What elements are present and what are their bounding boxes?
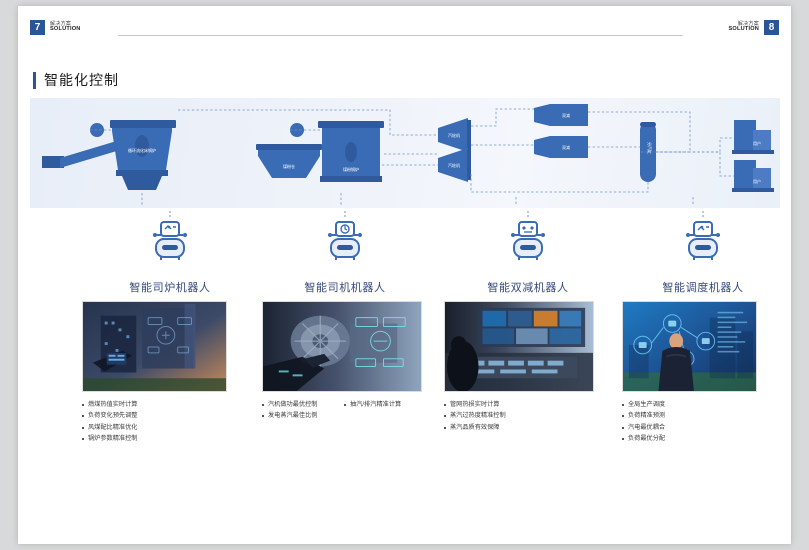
bullet-item: 负荷最优分配 <box>622 433 665 444</box>
bullet-item: 蒸汽品质有效保障 <box>444 422 506 433</box>
page-title: 智能化控制 <box>33 70 119 90</box>
node-label-dual-2: 双减 <box>562 144 570 150</box>
node-label-cfb: 循环流化床锅炉 <box>128 147 156 153</box>
node-user-upper: 用户 <box>732 120 774 154</box>
thumbnail-art <box>445 302 593 391</box>
process-diagram-svg: .fb{fill:#3a6bb5}.fd{fill:#2f5a9e}.fl{fi… <box>30 98 780 208</box>
bullet-item: 锅炉参数精准控制 <box>82 433 154 444</box>
header-divider-rule <box>118 35 683 36</box>
node-turbine-lower: 汽轮机 <box>438 148 471 182</box>
bullet-column: 燃煤热值实时计算 负荷变化预先调整 <box>82 399 154 422</box>
bullet-column: 全局生产调度 负荷精准预测 汽电最优耦合 负荷最优分配 <box>622 399 665 445</box>
card-row: 燃煤热值实时计算 负荷变化预先调整 风煤配比精准优化 锅炉参数精准控制 <box>30 301 780 451</box>
node-user-lower: 用户 <box>732 160 774 192</box>
header-right-brand: 解决方案 SOLUTION 8 <box>728 20 779 35</box>
robot-icon <box>498 211 558 271</box>
bullet-item: 燃煤热值实时计算 <box>82 399 154 410</box>
bullet-item: 汽电最优耦合 <box>622 422 665 433</box>
card-dual-reduction: 管网热损实时计算 蒸汽过热度精准控制 蒸汽品质有效保障 <box>444 301 594 433</box>
bullet-item: 发电蒸汽最佳比例 <box>262 410 334 421</box>
robot-dispatch: 智能调度机器人 <box>613 211 793 295</box>
title-accent-bar <box>33 72 36 89</box>
card-thumbnail <box>262 301 422 392</box>
card-bullets: 燃煤热值实时计算 负荷变化预先调整 风煤配比精准优化 锅炉参数精准控制 <box>82 399 227 445</box>
bullet-item: 负荷变化预先调整 <box>82 410 154 421</box>
card-dispatch: 全局生产调度 负荷精准预测 汽电最优耦合 负荷最优分配 <box>622 301 757 445</box>
robot-label: 智能调度机器人 <box>613 279 793 295</box>
robot-icon <box>140 211 200 271</box>
bullet-column: 汽机做功最优控制 发电蒸汽最佳比例 <box>262 399 334 422</box>
node-label-turbine-1: 汽轮机 <box>448 132 460 138</box>
bullet-column: 风煤配比精准优化 锅炉参数精准控制 <box>82 422 154 445</box>
bullet-item: 汽机做功最优控制 <box>262 399 334 410</box>
robot-row: 智能司炉机器人 智能司机机器人 <box>30 211 780 301</box>
robot-label: 智能司机机器人 <box>255 279 435 295</box>
robot-dual-reduction: 智能双减机器人 <box>438 211 618 295</box>
header-left-number: 7 <box>30 20 45 35</box>
bullet-column: 抽汽/排汽精准计算 <box>344 399 416 422</box>
card-bullets: 汽机做功最优控制 发电蒸汽最佳比例 抽汽/排汽精准计算 <box>262 399 422 422</box>
bullet-item: 风煤配比精准优化 <box>82 422 154 433</box>
robot-label: 智能司炉机器人 <box>80 279 260 295</box>
node-label-turbine-2: 汽轮机 <box>448 162 460 168</box>
card-thumbnail <box>444 301 594 392</box>
title-text: 智能化控制 <box>44 70 119 90</box>
process-diagram: .fb{fill:#3a6bb5}.fd{fill:#2f5a9e}.fl{fi… <box>30 98 780 208</box>
node-dual-reduction-upper: 双减 <box>534 104 588 126</box>
robot-icon <box>673 211 733 271</box>
node-label-bunker: 煤粉仓 <box>283 163 295 169</box>
thumbnail-art <box>263 302 421 391</box>
header-left-text: 解决方案 SOLUTION <box>50 22 81 33</box>
node-cfb-boiler: 循环流化床锅炉 <box>42 120 176 190</box>
header-left-brand: 7 解决方案 SOLUTION <box>30 20 81 35</box>
robot-label: 智能双减机器人 <box>438 279 618 295</box>
slide-canvas: 7 解决方案 SOLUTION 解决方案 SOLUTION 8 智能化控制 .f… <box>18 6 791 544</box>
thumbnail-art <box>623 302 756 391</box>
bullet-item: 抽汽/排汽精准计算 <box>344 399 416 410</box>
header-right-text: 解决方案 SOLUTION <box>728 22 759 33</box>
node-turbine-upper: 汽轮机 <box>438 118 471 152</box>
bullet-item: 负荷精准预测 <box>622 410 665 421</box>
bullet-item: 全局生产调度 <box>622 399 665 410</box>
bullet-item: 管网热损实时计算 <box>444 399 506 410</box>
robot-icon <box>315 211 375 271</box>
card-boiler-operator: 燃煤热值实时计算 负荷变化预先调整 风煤配比精准优化 锅炉参数精准控制 <box>82 301 227 445</box>
card-bullets: 管网热损实时计算 蒸汽过热度精准控制 蒸汽品质有效保障 <box>444 399 594 433</box>
bullet-item: 蒸汽过热度精准控制 <box>444 410 506 421</box>
diagram-flow-lines <box>90 109 734 206</box>
thumbnail-art <box>83 302 226 391</box>
node-label-user-2: 用户 <box>753 178 761 184</box>
robot-boiler-operator: 智能司炉机器人 <box>80 211 260 295</box>
node-coal-bunker: 煤粉仓 <box>256 144 322 178</box>
node-label-dual-1: 双减 <box>562 112 570 118</box>
card-bullets: 全局生产调度 负荷精准预测 汽电最优耦合 负荷最优分配 <box>622 399 757 445</box>
node-dual-reduction-lower: 双减 <box>534 136 588 158</box>
node-label-pcboiler: 煤粉锅炉 <box>343 166 359 172</box>
card-turbine-operator: 汽机做功最优控制 发电蒸汽最佳比例 抽汽/排汽精准计算 <box>262 301 422 422</box>
slide-header: 7 解决方案 SOLUTION 解决方案 SOLUTION 8 <box>18 6 791 46</box>
header-left-en: SOLUTION <box>50 27 81 33</box>
header-right-en: SOLUTION <box>728 27 759 33</box>
node-label-user-1: 用户 <box>753 140 761 146</box>
card-thumbnail <box>82 301 227 392</box>
card-thumbnail <box>622 301 757 392</box>
header-right-number: 8 <box>764 20 779 35</box>
robot-turbine-operator: 智能司机机器人 <box>255 211 435 295</box>
bullet-column: 管网热损实时计算 蒸汽过热度精准控制 蒸汽品质有效保障 <box>444 399 506 433</box>
